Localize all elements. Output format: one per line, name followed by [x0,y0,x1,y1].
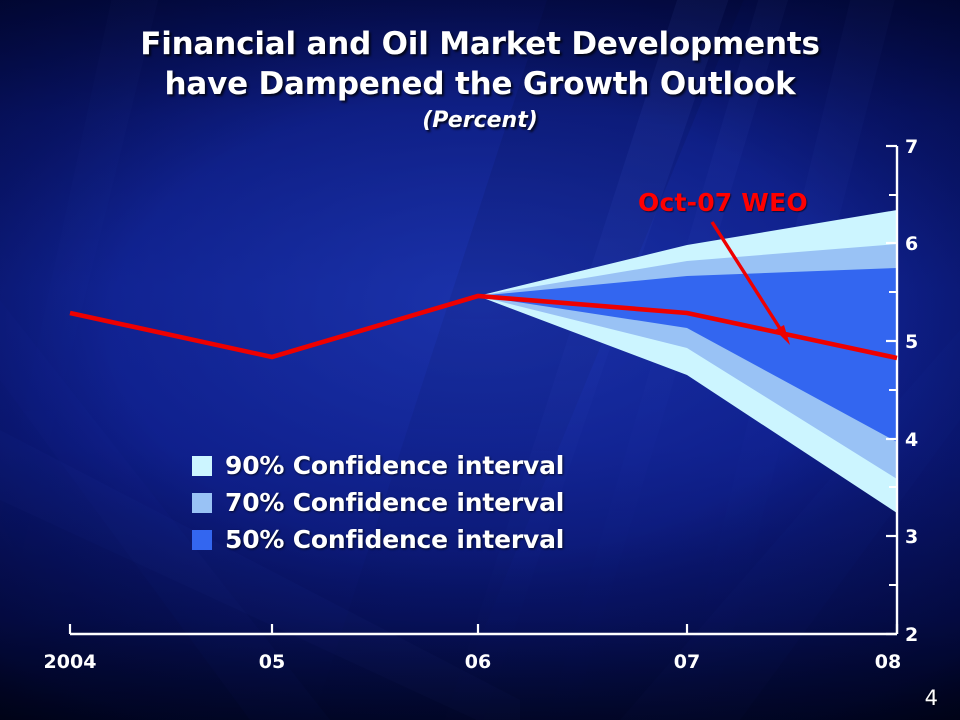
y-tick-label-4: 4 [905,429,918,451]
x-tick-label-2004: 2004 [44,651,97,673]
legend-swatch-90-icon [192,456,212,476]
y-tick-label-5: 5 [905,331,918,353]
x-axis-ticks [70,624,897,634]
x-tick-label-07: 07 [674,651,700,673]
legend-item-90: 90% Confidence interval [192,447,564,484]
y-tick-label-7: 7 [905,136,918,158]
fan-chart: 7 6 5 4 3 2 2004 05 06 07 08 [0,0,960,720]
x-tick-label-06: 06 [465,651,491,673]
legend: 90% Confidence interval 70% Confidence i… [192,447,564,558]
legend-swatch-70-icon [192,493,212,513]
legend-label-90: 90% Confidence interval [225,451,564,480]
legend-label-50: 50% Confidence interval [225,525,564,554]
legend-item-50: 50% Confidence interval [192,521,564,558]
y-tick-label-6: 6 [905,233,918,255]
y-tick-label-2: 2 [905,624,918,646]
annotation-label: Oct-07 WEO [638,188,808,217]
legend-label-70: 70% Confidence interval [225,488,564,517]
x-tick-label-05: 05 [259,651,285,673]
legend-item-70: 70% Confidence interval [192,484,564,521]
x-tick-label-08: 08 [875,651,901,673]
y-tick-label-3: 3 [905,526,918,548]
legend-swatch-50-icon [192,530,212,550]
slide: Financial and Oil Market Developments ha… [0,0,960,720]
page-number: 4 [925,686,938,710]
